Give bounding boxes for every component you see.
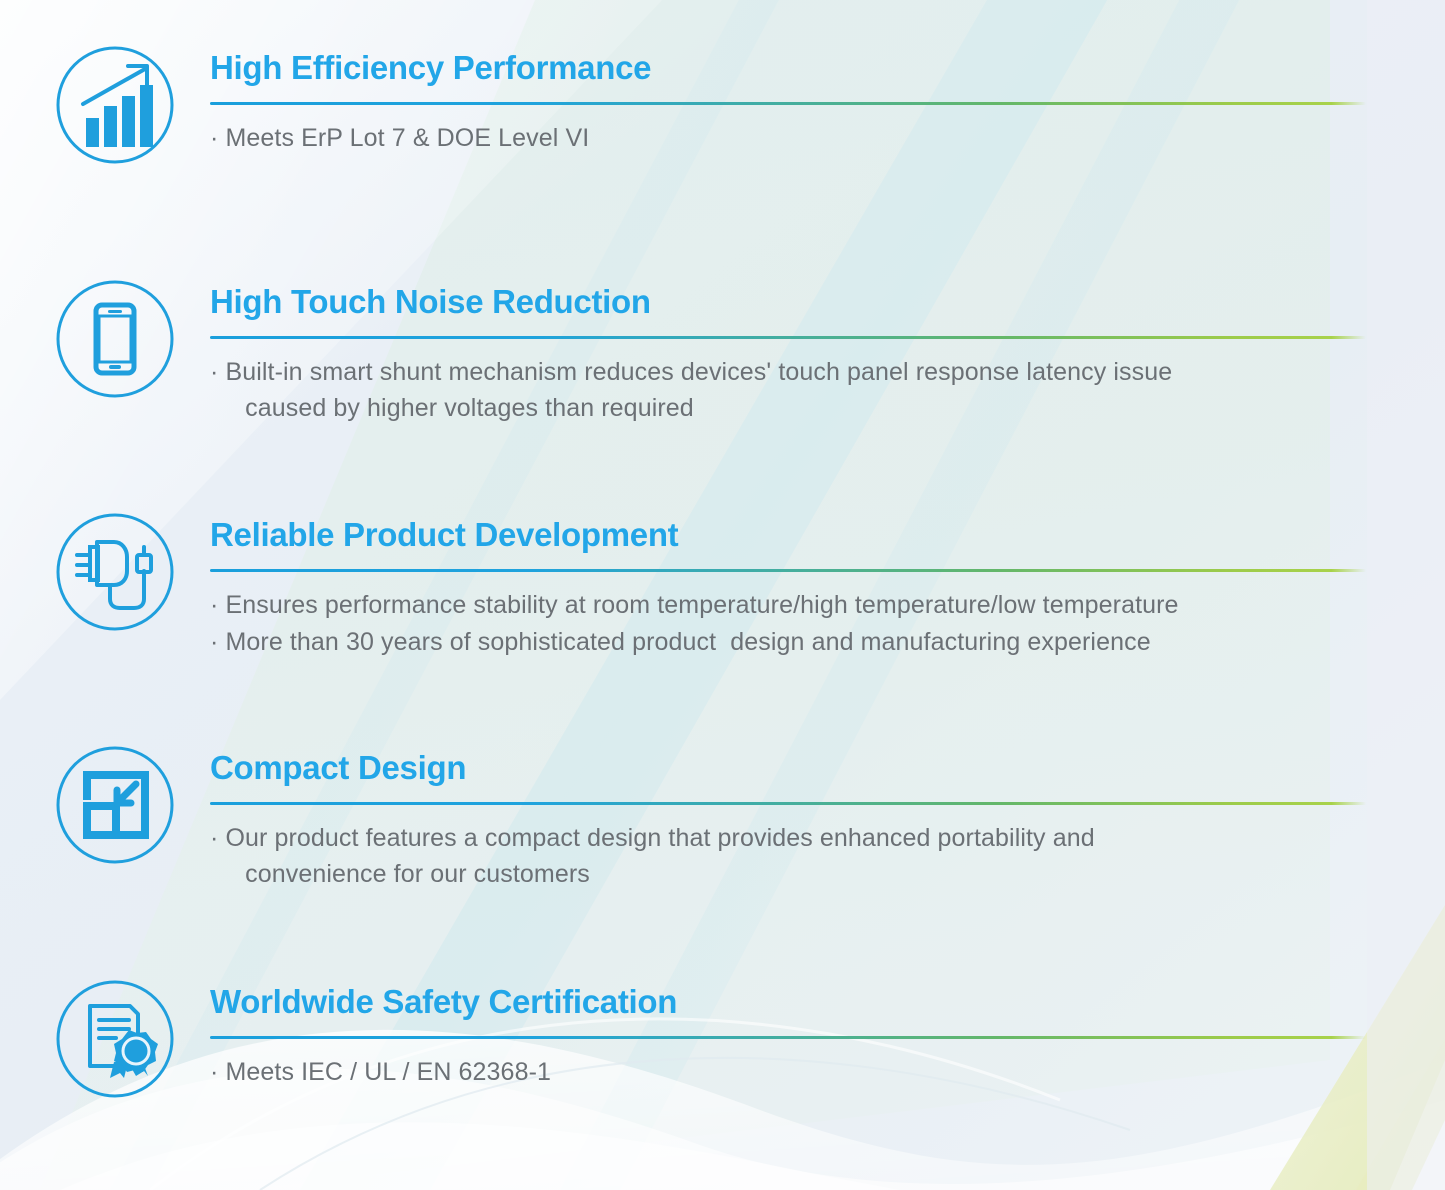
feature-item-reliable-product-development: Reliable Product Development · Ensures p… [0,509,1370,661]
feature-title: Worldwide Safety Certification [210,984,1370,1020]
feature-bullet: · Our product features a compact design … [210,820,1370,893]
certificate-seal-icon [52,976,178,1102]
feature-bullet: · Meets IEC / UL / EN 62368-1 [210,1054,1370,1091]
feature-divider [210,1036,1366,1039]
feature-body: Compact Design · Our product features a … [210,742,1370,893]
feature-title: Compact Design [210,750,1370,786]
smartphone-icon [52,276,178,402]
feature-divider [210,569,1366,572]
compact-shrink-icon [52,742,178,868]
feature-bullets: · Our product features a compact design … [210,820,1370,893]
feature-divider [210,102,1366,105]
bar-chart-growth-icon [52,42,178,168]
feature-item-high-efficiency-performance: High Efficiency Performance · Meets ErP … [0,42,1370,168]
feature-bullets: · Meets ErP Lot 7 & DOE Level VI [210,120,1370,157]
feature-divider [210,802,1366,805]
feature-body: Reliable Product Development · Ensures p… [210,509,1370,661]
feature-bullet: · More than 30 years of sophisticated pr… [210,624,1370,661]
feature-item-high-touch-noise-reduction: High Touch Noise Reduction · Built-in sm… [0,276,1370,427]
feature-bullets: · Built-in smart shunt mechanism reduces… [210,354,1370,427]
feature-divider [210,336,1366,339]
feature-list: High Efficiency Performance · Meets ErP … [0,0,1445,1190]
feature-bullet: · Ensures performance stability at room … [210,587,1370,624]
feature-body: High Touch Noise Reduction · Built-in sm… [210,276,1370,427]
feature-body: High Efficiency Performance · Meets ErP … [210,42,1370,156]
power-adapter-icon [52,509,178,635]
feature-bullet: · Built-in smart shunt mechanism reduces… [210,354,1370,427]
feature-title: High Efficiency Performance [210,50,1370,86]
feature-title: Reliable Product Development [210,517,1370,553]
feature-bullets: · Ensures performance stability at room … [210,587,1370,661]
feature-body: Worldwide Safety Certification · Meets I… [210,976,1370,1090]
feature-item-compact-design: Compact Design · Our product features a … [0,742,1370,893]
feature-bullet: · Meets ErP Lot 7 & DOE Level VI [210,120,1370,157]
feature-bullets: · Meets IEC / UL / EN 62368-1 [210,1054,1370,1091]
feature-title: High Touch Noise Reduction [210,284,1370,320]
feature-item-worldwide-safety-certification: Worldwide Safety Certification · Meets I… [0,976,1370,1102]
